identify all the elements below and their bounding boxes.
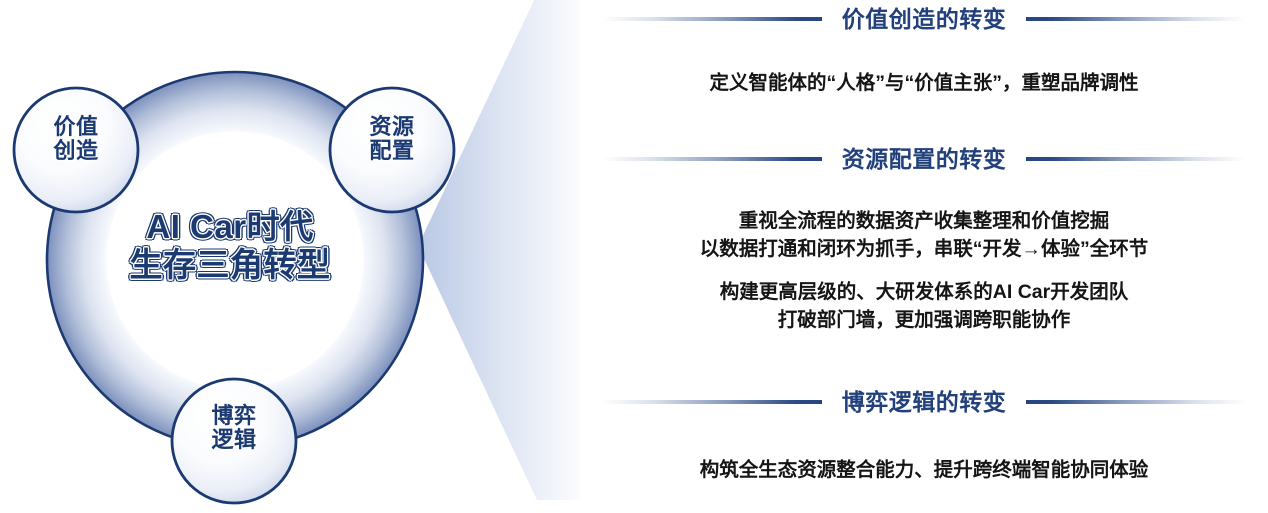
- node-bubble-resource-allocation[interactable]: [330, 88, 454, 212]
- divider-line-left: [604, 400, 822, 404]
- body-line: 打破部门墙，更加强调跨职能协作: [580, 307, 1268, 335]
- node-bubble-value-creation[interactable]: [14, 88, 138, 212]
- section-header: 价值创造的转变: [580, 2, 1268, 36]
- body-line: 重视全流程的数据资产收集整理和价值挖掘: [580, 208, 1268, 236]
- paragraph-spacer: [580, 263, 1268, 279]
- section-value-creation: 价值创造的转变 定义智能体的“人格”与“价值主张”，重塑品牌调性: [580, 2, 1268, 98]
- section-title: 博弈逻辑的转变: [822, 391, 1027, 414]
- diagram-graphic: [0, 0, 580, 513]
- body-line: 以数据打通和闭环为抓手，串联“开发→体验”全环节: [580, 236, 1268, 264]
- section-body: 定义智能体的“人格”与“价值主张”，重塑品牌调性: [580, 36, 1268, 98]
- section-title: 资源配置的转变: [822, 148, 1027, 171]
- body-line: 构筑全生态资源整合能力、提升跨终端智能协同体验: [580, 457, 1268, 485]
- divider-line-right: [1026, 400, 1244, 404]
- section-header: 资源配置的转变: [580, 142, 1268, 176]
- divider-line-right: [1026, 157, 1244, 161]
- content-panel: 价值创造的转变 定义智能体的“人格”与“价值主张”，重塑品牌调性 资源配置的转变…: [580, 0, 1268, 513]
- section-body: 构筑全生态资源整合能力、提升跨终端智能协同体验: [580, 419, 1268, 485]
- section-header: 博弈逻辑的转变: [580, 385, 1268, 419]
- section-resource-allocation: 资源配置的转变 重视全流程的数据资产收集整理和价值挖掘 以数据打通和闭环为抓手，…: [580, 142, 1268, 335]
- triangle-diagram-panel: 价值 创造 资源 配置 博弈 逻辑 AI Car时代 生存三角转型: [0, 0, 580, 513]
- section-title: 价值创造的转变: [822, 8, 1027, 31]
- node-bubble-game-logic[interactable]: [172, 379, 296, 503]
- section-game-logic: 博弈逻辑的转变 构筑全生态资源整合能力、提升跨终端智能协同体验: [580, 385, 1268, 485]
- divider-line-left: [604, 157, 822, 161]
- divider-line-left: [604, 17, 822, 21]
- section-body: 重视全流程的数据资产收集整理和价值挖掘 以数据打通和闭环为抓手，串联“开发→体验…: [580, 176, 1268, 335]
- body-line: 构建更高层级的、大研发体系的AI Car开发团队: [580, 279, 1268, 307]
- body-line: 定义智能体的“人格”与“价值主张”，重塑品牌调性: [580, 70, 1268, 98]
- divider-line-right: [1026, 17, 1244, 21]
- chevron-arrow-icon: [418, 0, 580, 500]
